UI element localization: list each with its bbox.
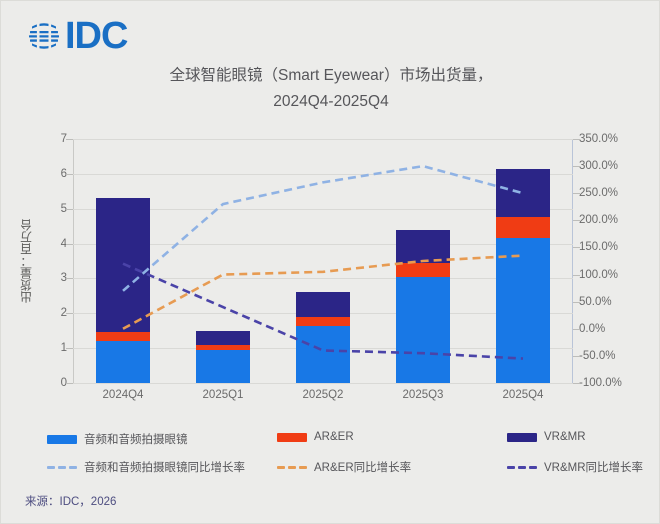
bar-segment[interactable] xyxy=(396,263,450,277)
y-axis-tick-mark xyxy=(66,209,73,210)
chart-page: IDC 全球智能眼镜（Smart Eyewear）市场出货量， 2024Q4-2… xyxy=(0,0,660,524)
y2-axis-tick-label: 100.0% xyxy=(579,269,649,281)
x-axis-tick-label: 2025Q3 xyxy=(403,389,444,401)
legend-label: AR&ER同比增长率 xyxy=(314,459,411,475)
y2-axis-tick-mark xyxy=(573,166,580,167)
y-axis-tick-mark xyxy=(66,348,73,349)
y-axis-tick-label: 4 xyxy=(27,238,67,250)
bar-group[interactable] xyxy=(96,139,150,383)
y2-axis-tick-label: 250.0% xyxy=(579,187,649,199)
y2-axis-tick-label: -50.0% xyxy=(579,350,649,362)
bar-segment[interactable] xyxy=(296,317,350,326)
x-axis-tick-label: 2025Q1 xyxy=(203,389,244,401)
y-axis-tick-mark xyxy=(66,313,73,314)
y2-axis-tick-mark xyxy=(573,247,580,248)
bar-segment[interactable] xyxy=(496,217,550,238)
bar-segment[interactable] xyxy=(96,332,150,341)
y-axis-tick-mark xyxy=(66,244,73,245)
legend-item-line[interactable]: 音频和音频拍摄眼镜同比增长率 xyxy=(47,459,245,475)
y-axis-tick-label: 7 xyxy=(27,133,67,145)
y2-axis-tick-mark xyxy=(573,383,580,384)
bar-segment[interactable] xyxy=(196,345,250,350)
legend-row-lines: 音频和音频拍摄眼镜同比增长率AR&ER同比增长率VR&MR同比增长率 xyxy=(47,459,647,481)
legend-label: VR&MR同比增长率 xyxy=(544,459,643,475)
y2-axis-tick-mark xyxy=(573,275,580,276)
plot-area: 01234567 -100.0%-50.0%0.0%50.0%100.0%150… xyxy=(73,139,573,383)
y2-axis-tick-label: 150.0% xyxy=(579,241,649,253)
legend-dash-icon xyxy=(277,463,307,472)
y-axis-tick-label: 3 xyxy=(27,272,67,284)
legend-item-bar[interactable]: VR&MR xyxy=(507,431,586,443)
y2-axis-tick-label: -100.0% xyxy=(579,377,649,389)
legend-label: 音频和音频拍摄眼镜 xyxy=(84,431,188,447)
y-axis-tick-mark xyxy=(66,139,73,140)
gridline xyxy=(73,383,573,384)
bar-segment[interactable] xyxy=(96,341,150,383)
bar-group[interactable] xyxy=(396,139,450,383)
idc-logo-text: IDC xyxy=(65,17,127,55)
y2-axis-tick-mark xyxy=(573,220,580,221)
y-axis-tick-label: 0 xyxy=(27,377,67,389)
bar-group[interactable] xyxy=(196,139,250,383)
right-axis-line xyxy=(572,139,573,383)
idc-globe-icon xyxy=(25,17,63,55)
y2-axis-tick-label: 300.0% xyxy=(579,160,649,172)
legend-item-bar[interactable]: AR&ER xyxy=(277,431,354,443)
legend-item-line[interactable]: VR&MR同比增长率 xyxy=(507,459,643,475)
y-axis-tick-mark xyxy=(66,174,73,175)
chart-legend: 音频和音频拍摄眼镜AR&ERVR&MR 音频和音频拍摄眼镜同比增长率AR&ER同… xyxy=(47,431,647,483)
bar-segment[interactable] xyxy=(196,331,250,345)
chart-header: IDC xyxy=(1,1,660,63)
legend-dash-icon xyxy=(47,463,77,472)
legend-label: 音频和音频拍摄眼镜同比增长率 xyxy=(84,459,245,475)
y2-axis-tick-label: 0.0% xyxy=(579,323,649,335)
y-axis-tick-mark xyxy=(66,383,73,384)
bar-segment[interactable] xyxy=(96,198,150,332)
y-axis-tick-label: 5 xyxy=(27,203,67,215)
bar-segment[interactable] xyxy=(296,292,350,316)
y2-axis-tick-label: 200.0% xyxy=(579,214,649,226)
bar-segment[interactable] xyxy=(496,169,550,218)
legend-dash-icon xyxy=(507,463,537,472)
y-axis-tick-mark xyxy=(66,278,73,279)
legend-swatch-icon xyxy=(277,433,307,442)
idc-logo: IDC xyxy=(25,17,127,55)
legend-label: VR&MR xyxy=(544,431,586,443)
legend-item-bar[interactable]: 音频和音频拍摄眼镜 xyxy=(47,431,188,447)
y2-axis-tick-mark xyxy=(573,329,580,330)
left-axis-line xyxy=(73,139,74,383)
y2-axis-tick-mark xyxy=(573,193,580,194)
x-axis-tick-label: 2025Q4 xyxy=(503,389,544,401)
y-axis-tick-label: 6 xyxy=(27,168,67,180)
y2-axis-tick-mark xyxy=(573,302,580,303)
y2-axis-tick-mark xyxy=(573,356,580,357)
bar-segment[interactable] xyxy=(396,277,450,383)
y-axis-tick-label: 2 xyxy=(27,307,67,319)
legend-swatch-icon xyxy=(507,433,537,442)
y-axis-tick-label: 1 xyxy=(27,342,67,354)
y2-axis-tick-label: 50.0% xyxy=(579,296,649,308)
bar-group[interactable] xyxy=(496,139,550,383)
title-block: 全球智能眼镜（Smart Eyewear）市场出货量， 2024Q4-2025Q… xyxy=(1,63,660,115)
y2-axis-tick-label: 350.0% xyxy=(579,133,649,145)
source-note: 来源：IDC，2026 xyxy=(25,493,116,509)
page-title: 全球智能眼镜（Smart Eyewear）市场出货量， xyxy=(1,63,660,89)
bar-segment[interactable] xyxy=(296,326,350,384)
x-axis-tick-label: 2024Q4 xyxy=(103,389,144,401)
bar-segment[interactable] xyxy=(196,350,250,383)
bar-group[interactable] xyxy=(296,139,350,383)
legend-swatch-icon xyxy=(47,435,77,444)
legend-row-bars: 音频和音频拍摄眼镜AR&ERVR&MR xyxy=(47,431,647,453)
y2-axis-tick-mark xyxy=(573,139,580,140)
bar-segment[interactable] xyxy=(496,238,550,383)
page-subtitle: 2024Q4-2025Q4 xyxy=(1,89,660,115)
bar-segment[interactable] xyxy=(396,230,450,263)
legend-item-line[interactable]: AR&ER同比增长率 xyxy=(277,459,411,475)
x-axis-tick-label: 2025Q2 xyxy=(303,389,344,401)
legend-label: AR&ER xyxy=(314,431,354,443)
